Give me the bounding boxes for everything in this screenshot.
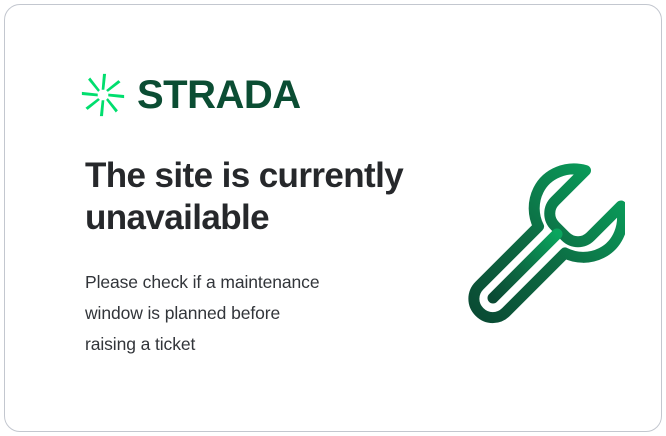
strada-asterisk-icon bbox=[81, 73, 125, 117]
body-copy-line: window is planned before bbox=[85, 298, 415, 329]
brand-lockup: STRADA bbox=[81, 73, 301, 117]
wrench-icon bbox=[457, 157, 625, 325]
body-copy-line: raising a ticket bbox=[85, 329, 415, 360]
body-copy: Please check if a maintenance window is … bbox=[85, 239, 415, 360]
body-copy-line: Please check if a maintenance bbox=[85, 267, 415, 298]
message-block: The site is currently unavailable Please… bbox=[85, 155, 415, 360]
brand-wordmark: STRADA bbox=[137, 75, 301, 115]
page-title: The site is currently unavailable bbox=[85, 155, 415, 239]
maintenance-card: STRADA The site is currently unavailable… bbox=[4, 4, 662, 432]
